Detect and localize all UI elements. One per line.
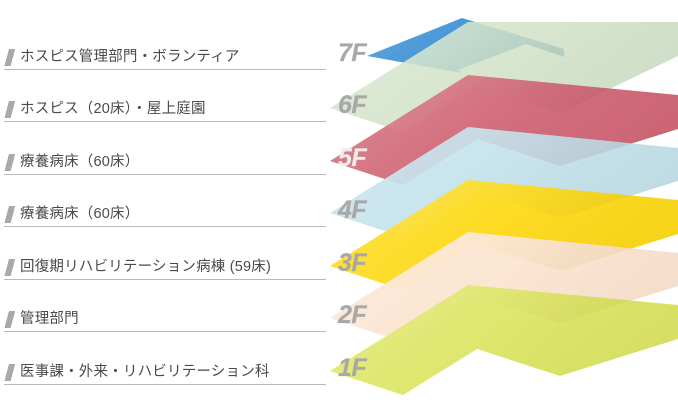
slash-bullet-icon (4, 49, 15, 66)
floor-label-row-1f[interactable]: 医事課・外来・リハビリテーション科 (4, 359, 326, 385)
floor-label-text: 医事課・外来・リハビリテーション科 (20, 364, 270, 381)
floor-label-row-2f[interactable]: 管理部門 (4, 306, 326, 332)
floor-number-4f: 4F (338, 198, 366, 223)
floor-number-7f: 7F (338, 41, 366, 66)
slash-bullet-icon (4, 364, 15, 381)
slash-bullet-icon (4, 259, 15, 276)
floor-guide-diagram: ホスピス管理部門・ボランティアホスピス（20床）・屋上庭園療養病床（60床）療養… (0, 0, 678, 411)
floor-label-text: ホスピス管理部門・ボランティア (20, 49, 240, 66)
floor-number-1f: 1F (338, 356, 366, 381)
floor-label-text: 療養病床（60床） (20, 206, 139, 223)
floor-number-3f: 3F (338, 251, 366, 276)
floor-number-5f: 5F (338, 146, 366, 171)
floor-label-row-7f[interactable]: ホスピス管理部門・ボランティア (4, 44, 326, 70)
floor-number-6f: 6F (338, 93, 366, 118)
slash-bullet-icon (4, 154, 15, 171)
floor-number-2f: 2F (338, 303, 366, 328)
slash-bullet-icon (4, 101, 15, 118)
floor-label-row-6f[interactable]: ホスピス（20床）・屋上庭園 (4, 96, 326, 122)
floor-label-text: 回復期リハビリテーション病棟 (59床) (20, 259, 271, 276)
floor-label-text: 療養病床（60床） (20, 154, 139, 171)
floor-label-row-3f[interactable]: 回復期リハビリテーション病棟 (59床) (4, 254, 326, 280)
floor-label-text: ホスピス（20床）・屋上庭園 (20, 101, 206, 118)
slash-bullet-icon (4, 311, 15, 328)
floor-label-text: 管理部門 (20, 311, 79, 328)
floor-label-row-4f[interactable]: 療養病床（60床） (4, 201, 326, 227)
floor-label-row-5f[interactable]: 療養病床（60床） (4, 149, 326, 175)
slash-bullet-icon (4, 206, 15, 223)
